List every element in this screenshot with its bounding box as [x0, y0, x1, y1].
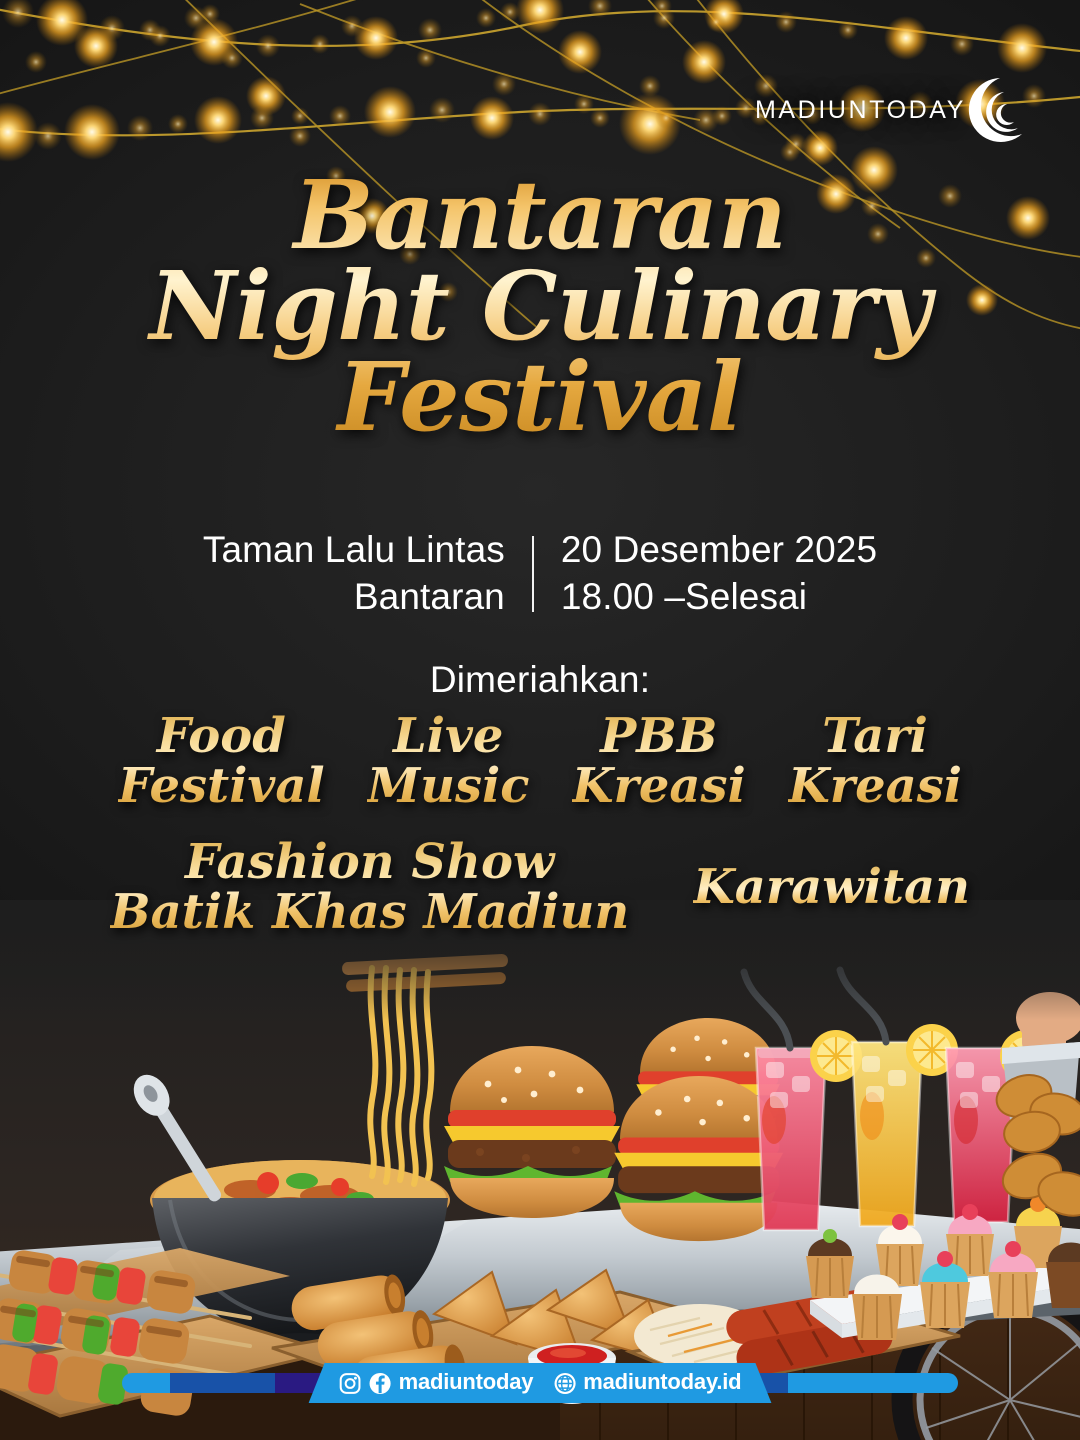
footer-stripe-right-light [788, 1373, 958, 1393]
lineup-item-tari-kreasi: Tari Kreasi [788, 712, 962, 812]
facebook-icon[interactable] [369, 1372, 392, 1395]
brand-logo-text: MADIUNTODAY [755, 96, 966, 125]
swoosh-crescent-icon [962, 72, 1038, 148]
lineup-item-line-2: Festival [118, 762, 325, 812]
lineup-row-2: Fashion Show Batik Khas Madiun Karawitan [110, 838, 970, 938]
brand-logo: MADIUNTODAY [755, 72, 1038, 148]
page-title: Bantaran Night Culinary Festival [0, 168, 1080, 447]
title-line-3: Festival [0, 350, 1080, 447]
website-group[interactable]: madiuntoday.id [553, 1372, 741, 1395]
lineup-item-line-2: Kreasi [788, 762, 962, 812]
food-spread-photo [0, 900, 1080, 1440]
lineup-item-line-2: Kreasi [572, 762, 746, 812]
lineup-item-line-1: PBB [572, 712, 746, 762]
lineup-label: Dimeriahkan: [0, 659, 1080, 701]
date-block: 20 Desember 2025 18.00 –Selesai [534, 527, 877, 621]
lineup-item-line-1: Live [367, 712, 530, 762]
lineup-item-line-1: Karawitan [693, 863, 970, 913]
event-info: Taman Lalu Lintas Bantaran 20 Desember 2… [0, 527, 1080, 621]
date-line-2: 18.00 –Selesai [561, 574, 877, 621]
venue-block: Taman Lalu Lintas Bantaran [203, 527, 532, 621]
social-handle-text: madiuntoday [399, 1371, 534, 1393]
lineup-item-line-1: Fashion Show [110, 838, 629, 888]
globe-icon[interactable] [553, 1372, 576, 1395]
lineup-item-line-2: Batik Khas Madiun [110, 888, 629, 938]
lineup-item-line-1: Tari [788, 712, 962, 762]
lineup-item-karawitan: Karawitan [693, 863, 970, 913]
venue-line-1: Taman Lalu Lintas [203, 527, 505, 574]
lineup-item-fashion-show: Fashion Show Batik Khas Madiun [110, 838, 629, 938]
lineup-item-line-2: Music [367, 762, 530, 812]
lineup-item-line-1: Food [118, 712, 325, 762]
lineup-row-1: Food Festival Live Music PBB Kreasi Tari… [118, 712, 962, 812]
footer-banner: madiuntoday madiuntoday.id [309, 1363, 772, 1403]
lineup-item-pbb-kreasi: PBB Kreasi [572, 712, 746, 812]
instagram-icon[interactable] [339, 1372, 362, 1395]
poster-canvas: MADIUNTODAY Bantaran Night Culinary Fest… [0, 0, 1080, 1440]
date-line-1: 20 Desember 2025 [561, 527, 877, 574]
lineup-item-food-festival: Food Festival [118, 712, 325, 812]
social-footer-bar: madiuntoday madiuntoday.id [0, 1363, 1080, 1403]
social-handle-group[interactable]: madiuntoday [339, 1372, 534, 1395]
venue-line-2: Bantaran [203, 574, 505, 621]
lineup-item-live-music: Live Music [367, 712, 530, 812]
website-text: madiuntoday.id [583, 1371, 741, 1393]
